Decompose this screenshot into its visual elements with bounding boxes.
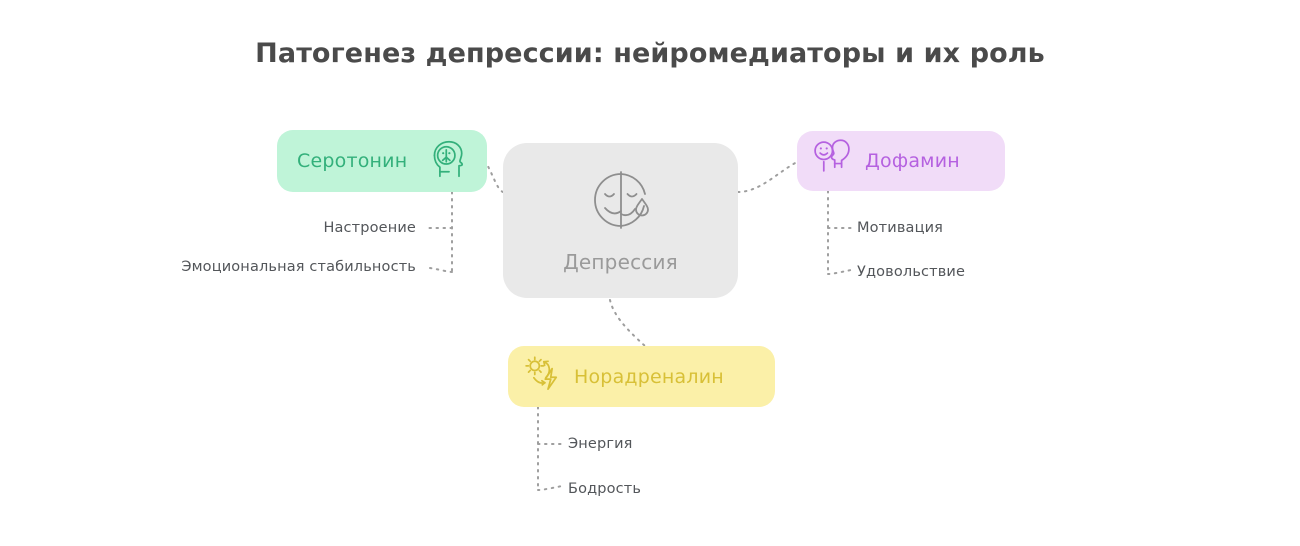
sub-label-motivation: Мотивация	[857, 220, 977, 236]
page-title: Патогенез депрессии: нейромедиаторы и их…	[0, 38, 1300, 69]
node-noradrenaline-label: Норадреналин	[574, 366, 724, 388]
edge-dopamine-pleasure	[828, 270, 851, 274]
sub-label-vigour: Бодрость	[568, 481, 658, 497]
sub-label-pleasure: Удовольствие	[857, 264, 1007, 280]
node-dopamine-label: Дофамин	[865, 150, 960, 172]
node-dopamine[interactable]: Дофамин	[797, 131, 1005, 191]
edge-center-serotonin	[486, 163, 503, 192]
node-serotonin-label: Серотонин	[297, 150, 407, 172]
sub-label-stability: Эмоциональная стабильность	[178, 259, 416, 275]
node-serotonin[interactable]: Серотонин	[277, 130, 487, 192]
edge-center-dopamine	[738, 162, 797, 192]
node-depression-label: Депрессия	[563, 250, 678, 274]
sun-lightning-bolt-icon	[522, 354, 564, 400]
sub-label-mood: Настроение	[312, 220, 416, 236]
head-with-smiley-icon	[811, 138, 853, 184]
head-with-face-circle-icon	[429, 139, 469, 183]
edge-serotonin-stability	[430, 268, 452, 272]
node-noradrenaline[interactable]: Норадреналин	[508, 346, 775, 407]
edge-center-noradrenaline	[610, 300, 645, 346]
node-depression[interactable]: Депрессия	[503, 143, 738, 298]
sub-label-energy: Энергия	[568, 436, 658, 452]
edge-noradrenaline-vigour	[538, 486, 562, 490]
half-happy-half-sad-face-icon	[589, 168, 653, 236]
mindmap-canvas: Патогенез депрессии: нейромедиаторы и их…	[0, 0, 1300, 546]
